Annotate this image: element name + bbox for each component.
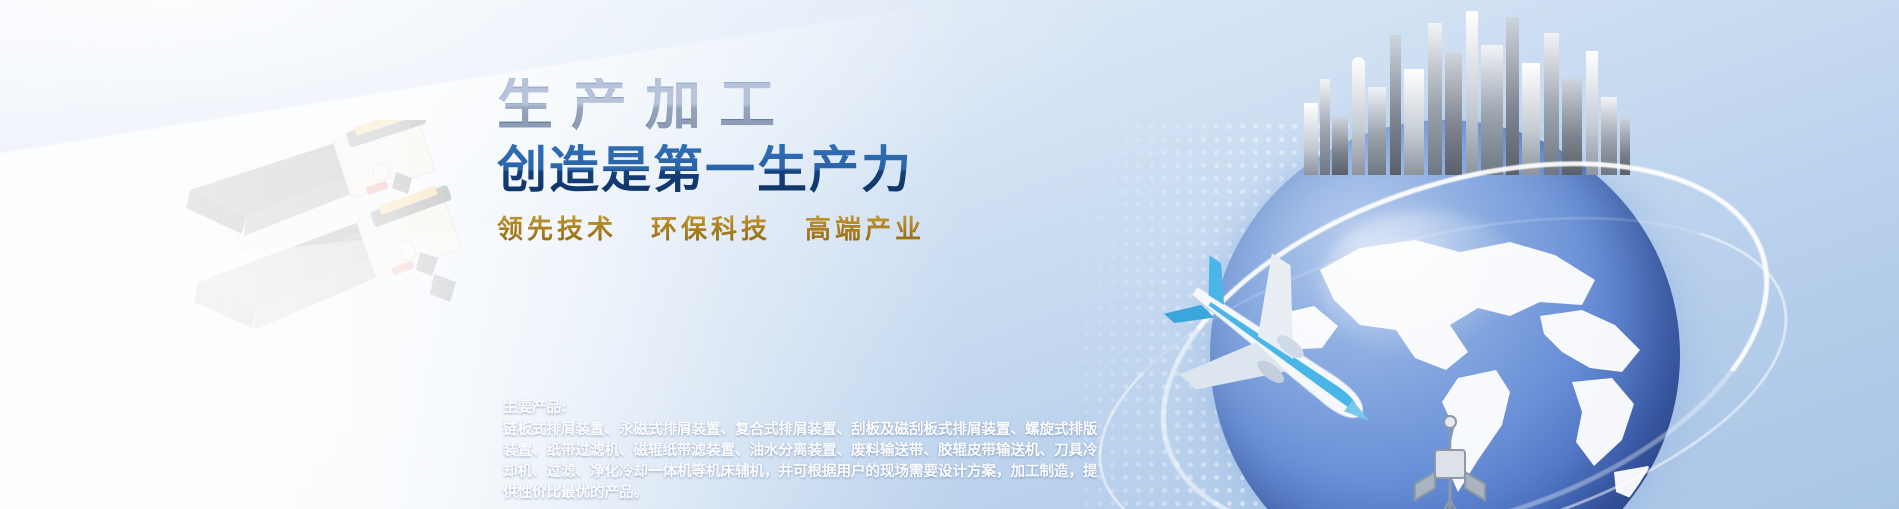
description-line-3: 却机、过滤、净化冷却一体机等机床辅机，并可根据用户的现场需要设计方案，加工制造，… [503,462,1263,483]
tagline-list: 领先技术 环保科技 高端产业 [497,209,967,246]
description-line-1: 链板式排屑装置、永磁式排屑装置、复合式排屑装置、刮板及磁刮板式排屑装置、螺旋式排… [503,420,1263,441]
tagline-item-1: 领先技术 [497,209,617,246]
product-description: 主要产品: 链板式排屑装置、永磁式排屑装置、复合式排屑装置、刮板及磁刮板式排屑装… [503,398,1263,504]
description-line-2: 装置、纸带过滤机、磁辊纸带滤装置、油水分离装置、废料输送带、胶辊皮带输送机、刀具… [503,441,1263,462]
tagline-item-3: 高端产业 [805,209,925,246]
satellite [1355,380,1545,509]
description-line-4: 供性价比最优的产品。 [503,483,1263,504]
description-lead: 主要产品: [503,398,1263,419]
promo-banner: 生产加工 创造是第一生产力 领先技术 环保科技 高端产业 主要产品: 链板式排屑… [0,0,1899,509]
page-subtitle: 创造是第一生产力 [497,144,967,197]
city-skyline [1300,5,1630,175]
headline-group: 生产加工 创造是第一生产力 领先技术 环保科技 高端产业 [497,78,967,246]
tagline-item-2: 环保科技 [651,209,771,246]
page-title: 生产加工 [497,78,967,134]
